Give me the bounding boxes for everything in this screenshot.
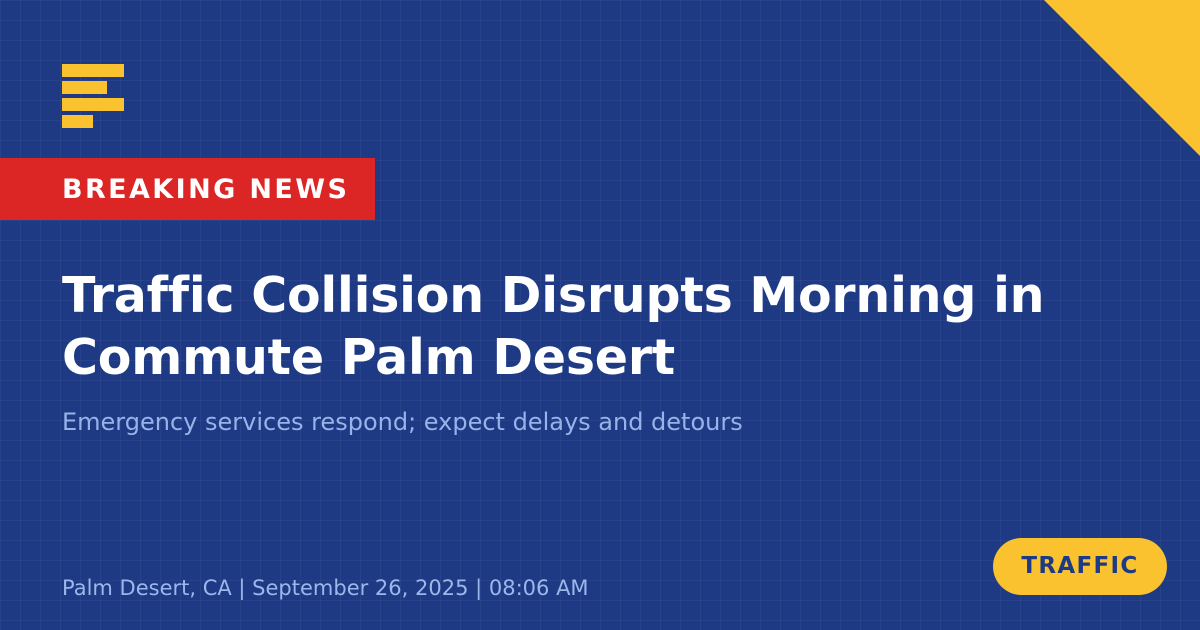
footer-meta-line: Palm Desert, CA | September 26, 2025 | 0…: [62, 576, 589, 601]
logo-bar-2: [62, 81, 107, 94]
logo-bar-1: [62, 64, 124, 77]
logo-bar-4: [62, 115, 93, 128]
subtitle-text: Emergency services respond; expect delay…: [62, 407, 1062, 438]
breaking-news-badge: BREAKING NEWS: [0, 158, 375, 220]
corner-accent-triangle: [1044, 0, 1200, 156]
breaking-news-label: BREAKING NEWS: [62, 176, 349, 203]
logo-bar-3: [62, 98, 124, 111]
headline-text: Traffic Collision Disrupts Morning in Co…: [62, 265, 1102, 388]
category-badge-label: TRAFFIC: [1021, 555, 1138, 578]
breaking-news-card: BREAKING NEWS Traffic Collision Disrupts…: [0, 0, 1200, 630]
brand-logo: [62, 64, 128, 128]
category-badge: TRAFFIC: [993, 538, 1167, 595]
